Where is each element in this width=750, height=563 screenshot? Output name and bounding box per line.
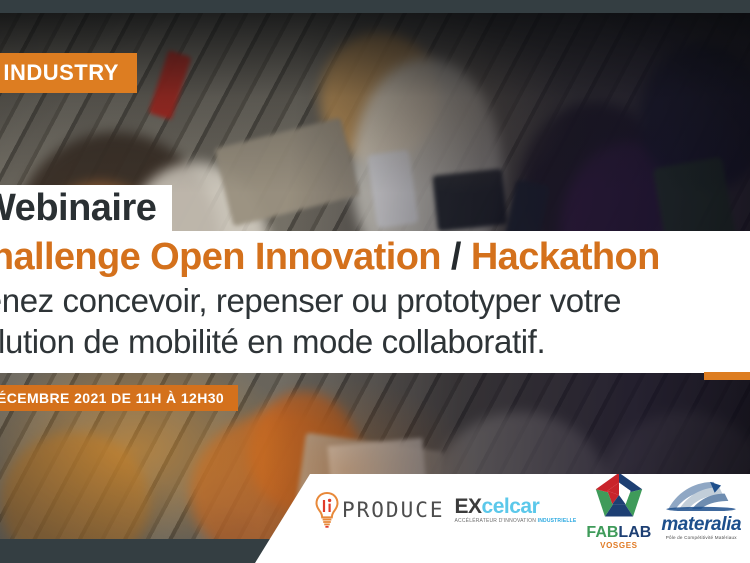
fablab-sublabel: VOSGES <box>600 541 637 550</box>
subtitle-line-2: solution de mobilité en mode collaborati… <box>0 321 750 362</box>
headline-separator: / <box>451 236 461 278</box>
main-text-panel: Challenge Open Innovation / Hackathon Ve… <box>0 231 750 373</box>
subtitle-line-1: Venez concevoir, repenser ou prototyper … <box>0 280 750 321</box>
headline-part2: Hackathon <box>471 236 660 278</box>
iproduce-wordmark: PRODUCE <box>342 498 445 522</box>
fablab-word-fab: FAB <box>586 524 618 541</box>
excelcar-letter-e: E <box>455 495 469 518</box>
fablab-pentagon-icon <box>594 471 644 524</box>
excelcar-tagline: ACCÉLÉRATEUR D'INNOVATION INDUSTRIELLE <box>455 519 577 524</box>
top-dark-bar <box>0 0 750 13</box>
excelcar-word-rest: celcar <box>482 495 540 518</box>
webinar-banner: # INDUSTRY Webinaire Challenge Open Inno… <box>0 0 750 563</box>
excelcar-wordmark: EXcelcar <box>455 496 577 517</box>
materalia-sublabel: Pôle de Compétitivité Matériaux <box>666 536 737 541</box>
panel-orange-tick <box>704 372 750 380</box>
partner-logo-row: PRODUCE EXcelcar ACCÉLÉRATEUR D'INNOVATI… <box>310 474 750 546</box>
logo-iproduce: PRODUCE <box>314 490 445 530</box>
headline: Challenge Open Innovation / Hackathon <box>0 237 750 278</box>
partner-logo-panel: PRODUCE EXcelcar ACCÉLÉRATEUR D'INNOVATI… <box>255 474 750 563</box>
industry-badge: # INDUSTRY <box>0 53 137 93</box>
date-band: 2 DÉCEMBRE 2021 DE 11H À 12H30 <box>0 385 238 411</box>
excelcar-letter-x: X <box>468 495 482 518</box>
webinaire-panel: Webinaire <box>0 185 172 235</box>
excelcar-tagline-accent: INDUSTRIELLE <box>538 518 577 524</box>
materalia-swoosh-icon <box>664 480 738 515</box>
logo-excelcar: EXcelcar ACCÉLÉRATEUR D'INNOVATION INDUS… <box>455 496 577 524</box>
webinaire-label: Webinaire <box>0 189 156 229</box>
logo-materalia: materalia Pôle de Compétitivité Matériau… <box>661 480 741 541</box>
logo-fablab: FABLAB VOSGES <box>586 471 651 550</box>
fablab-wordmark: FABLAB <box>586 525 651 541</box>
lightbulb-icon <box>314 490 340 530</box>
headline-part1: Challenge Open Innovation <box>0 236 441 278</box>
fablab-word-lab: LAB <box>618 524 651 541</box>
excelcar-tagline-main: ACCÉLÉRATEUR D'INNOVATION <box>455 518 538 524</box>
materalia-wordmark: materalia <box>661 515 741 534</box>
